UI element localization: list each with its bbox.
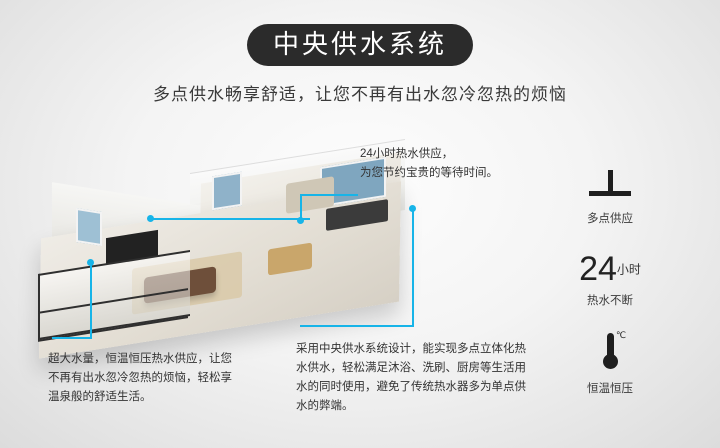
- callout-line-center-vertical: [412, 208, 414, 326]
- callout-text-bottom-left: 超大水量，恒温恒压热水供应，让您不再有出水忽冷忽热的烦恼，轻松享温泉般的舒适生活…: [48, 350, 238, 407]
- callout-dot-left: [87, 259, 94, 266]
- feature-multi-point: 多点供应: [555, 170, 665, 226]
- pipe-dot-left: [147, 215, 154, 222]
- page-subtitle: 多点供水畅享舒适，让您不再有出水忽冷忽热的烦恼: [0, 80, 720, 105]
- promo-banner: 中央供水系统 多点供水畅享舒适，让您不再有出水忽冷忽热的烦恼 24小时热水供应，…: [0, 0, 720, 448]
- window-icon: [76, 208, 102, 246]
- callout-top-line-1: 24小时热水供应，: [360, 145, 540, 164]
- feature-caption: 热水不断: [555, 292, 665, 308]
- callout-line-center-horizontal: [300, 325, 414, 327]
- feature-constant-temp: ℃ 恒温恒压: [555, 330, 665, 396]
- callout-top-line-2: 为您节约宝贵的等待时间。: [360, 164, 540, 183]
- callout-line-top-horizontal: [300, 194, 358, 196]
- callout-line-left-vertical: [90, 262, 92, 338]
- title-container: 中央供水系统: [0, 24, 720, 66]
- callout-text-top: 24小时热水供应， 为您节约宝贵的等待时间。: [360, 145, 540, 183]
- 24-hour-icon: 24小时: [555, 252, 665, 286]
- callout-text-bottom-center: 采用中央供水系统设计，能实现多点立体化热水供水，轻松满足沐浴、洗刷、厨房等生活用…: [296, 340, 531, 416]
- callout-dot-center: [409, 205, 416, 212]
- callout-line-left-horizontal: [52, 337, 92, 339]
- window-icon: [212, 172, 242, 211]
- feature-24-hour: 24小时 热水不断: [555, 252, 665, 308]
- feature-caption: 多点供应: [555, 210, 665, 226]
- feature-caption: 恒温恒压: [555, 380, 665, 396]
- water-pipe-line: [150, 218, 310, 220]
- degree-symbol: ℃: [616, 330, 626, 341]
- feature-unit: 小时: [617, 263, 641, 277]
- page-title: 中央供水系统: [247, 24, 473, 66]
- multi-point-supply-icon: [587, 170, 633, 204]
- thermometer-icon: ℃: [587, 330, 633, 374]
- feature-value: 24: [579, 250, 617, 288]
